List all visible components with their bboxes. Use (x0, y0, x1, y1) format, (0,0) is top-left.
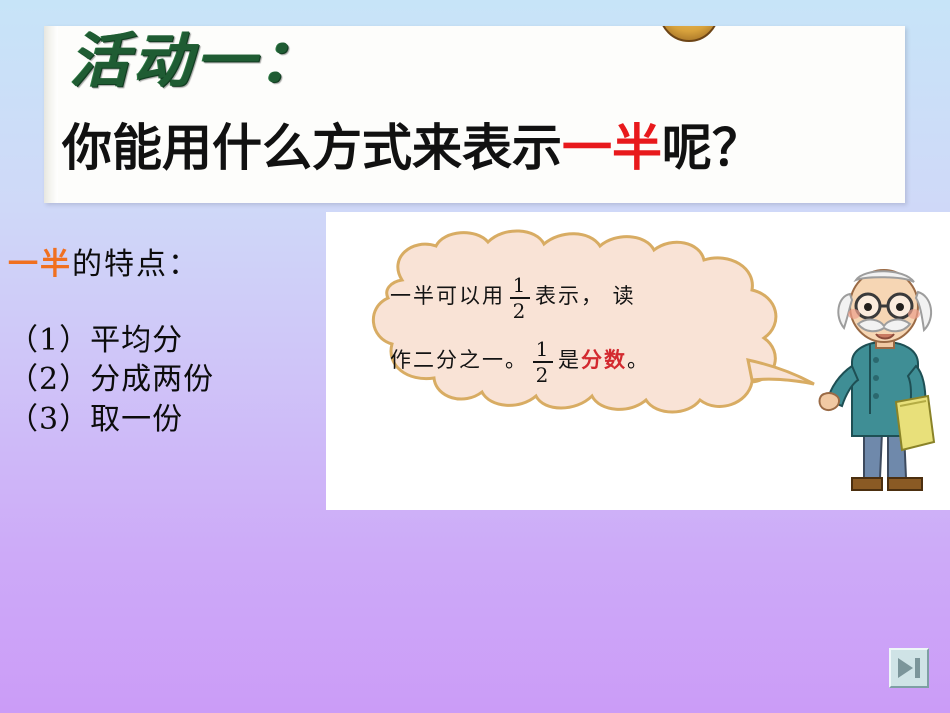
banner-question: 你能用什么方式来表示一半呢？ (62, 121, 762, 176)
fraction-one-half-first: 12 (510, 275, 530, 321)
fraction-one-half-second: 12 (533, 339, 553, 385)
bubble-line-1: 一半可以用12表示， 读 (390, 264, 790, 328)
bubble-line2-mid: 是 (558, 348, 581, 372)
speech-bubble: 一半可以用12表示， 读 作二分之一。12是分数。 (344, 228, 816, 416)
characteristics-block: 一半的特点： （1）平均分 （2）分成两份 （3）取一份 (8, 248, 320, 440)
fraction-denominator: 2 (513, 299, 528, 321)
bubble-keyword-fraction: 分数 (581, 347, 627, 372)
old-man-character-icon (818, 254, 946, 504)
cropped-circle-decoration (659, 26, 719, 42)
bubble-line1-before: 一半可以用 (390, 284, 505, 308)
question-suffix: 呢？ (662, 119, 762, 177)
illustration-panel: 一半可以用12表示， 读 作二分之一。12是分数。 (326, 212, 950, 510)
question-highlight: 一半 (562, 119, 662, 177)
heading-rest: 的特点： (72, 247, 200, 282)
activity-banner-image: 活动一： 你能用什么方式来表示一半呢？ (44, 26, 905, 203)
bubble-line-2: 作二分之一。12是分数。 (390, 328, 790, 392)
bubble-line2-after: 。 (627, 348, 650, 372)
bubble-text: 一半可以用12表示， 读 作二分之一。12是分数。 (390, 264, 790, 392)
list-item: （2）分成两份 (8, 360, 320, 400)
presentation-slide: 活动一： 你能用什么方式来表示一半呢？ 一半可以用12表示， 读 作二分之一。1… (0, 0, 950, 713)
fraction-denominator: 2 (536, 363, 551, 385)
heading-highlight: 一半 (8, 247, 72, 282)
characteristics-list: （1）平均分 （2）分成两份 （3）取一份 (8, 321, 320, 441)
paper-edge-shading (44, 26, 58, 203)
bubble-line1-after: 表示， 读 (535, 284, 636, 308)
next-slide-button[interactable] (889, 648, 929, 688)
banner-title: 活动一： (70, 30, 322, 92)
characteristics-heading: 一半的特点： (8, 248, 320, 283)
question-prefix: 你能用什么方式来表示 (62, 119, 562, 177)
bubble-line2-before: 作二分之一。 (390, 348, 528, 372)
list-item: （3）取一份 (8, 400, 320, 440)
list-item: （1）平均分 (8, 321, 320, 361)
fraction-numerator: 1 (513, 275, 528, 297)
fraction-numerator: 1 (536, 339, 551, 361)
skip-forward-icon (896, 656, 922, 680)
